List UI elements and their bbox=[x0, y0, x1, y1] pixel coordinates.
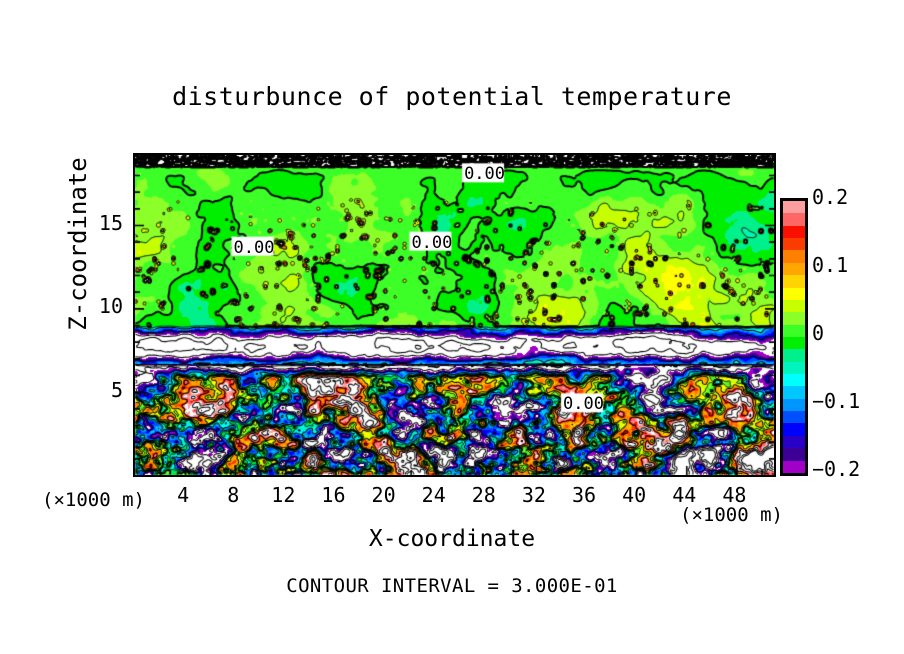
x-tick-label: 12 bbox=[263, 483, 303, 507]
colorbar-band bbox=[783, 201, 805, 213]
x-tick-label: 16 bbox=[313, 483, 353, 507]
colorbar-band bbox=[783, 263, 805, 275]
x-tick-label: 24 bbox=[414, 483, 454, 507]
z-axis-units: (×1000 m) bbox=[42, 489, 145, 511]
colorbar-band bbox=[783, 288, 805, 300]
colorbar-band bbox=[783, 362, 805, 374]
colorbar-band bbox=[783, 300, 805, 312]
colorbar-band bbox=[783, 436, 805, 448]
colorbar-band bbox=[783, 448, 805, 460]
x-axis-units: (×1000 m) bbox=[680, 504, 783, 526]
colorbar-band bbox=[783, 374, 805, 386]
contour-plot-area: 0.00 0.00 0.00 0.00 bbox=[133, 153, 776, 477]
colorbar-band bbox=[783, 399, 805, 411]
figure-root: disturbunce of potential temperature 0.0… bbox=[0, 0, 904, 654]
colorbar-band bbox=[783, 461, 805, 473]
colorbar-band bbox=[783, 423, 805, 435]
y-tick-label: 5 bbox=[83, 378, 123, 402]
colorbar-band bbox=[783, 411, 805, 423]
y-tick-label: 15 bbox=[83, 211, 123, 235]
colorbar-tick-label: −0.2 bbox=[812, 457, 860, 481]
colorbar-band bbox=[783, 349, 805, 361]
colorbar-tick-label: 0 bbox=[812, 321, 824, 345]
x-tick-label: 20 bbox=[364, 483, 404, 507]
x-tick-label: 40 bbox=[614, 483, 654, 507]
colorbar-band bbox=[783, 386, 805, 398]
x-axis-label: X-coordinate bbox=[0, 526, 904, 552]
x-tick-label: 36 bbox=[564, 483, 604, 507]
x-tick-label: 32 bbox=[514, 483, 554, 507]
page-title: disturbunce of potential temperature bbox=[0, 82, 904, 111]
y-axis-label: Z-coordinate bbox=[64, 124, 92, 364]
colorbar-tick-label: 0.2 bbox=[812, 185, 848, 209]
x-tick-label: 4 bbox=[163, 483, 203, 507]
contour-interval-note: CONTOUR INTERVAL = 3.000E-01 bbox=[0, 575, 904, 597]
colorbar-band bbox=[783, 226, 805, 238]
colorbar-band bbox=[783, 312, 805, 324]
colorbar-band bbox=[783, 238, 805, 250]
colorbar-band bbox=[783, 325, 805, 337]
colorbar-band bbox=[783, 250, 805, 262]
contour-plot-canvas bbox=[135, 155, 774, 475]
colorbar-band bbox=[783, 337, 805, 349]
x-tick-label: 28 bbox=[464, 483, 504, 507]
colorbar-band bbox=[783, 213, 805, 225]
colorbar-tick-label: −0.1 bbox=[812, 389, 860, 413]
y-tick-label: 10 bbox=[83, 294, 123, 318]
colorbar bbox=[780, 198, 808, 476]
x-tick-label: 8 bbox=[213, 483, 253, 507]
colorbar-tick-label: 0.1 bbox=[812, 253, 848, 277]
colorbar-band bbox=[783, 275, 805, 287]
